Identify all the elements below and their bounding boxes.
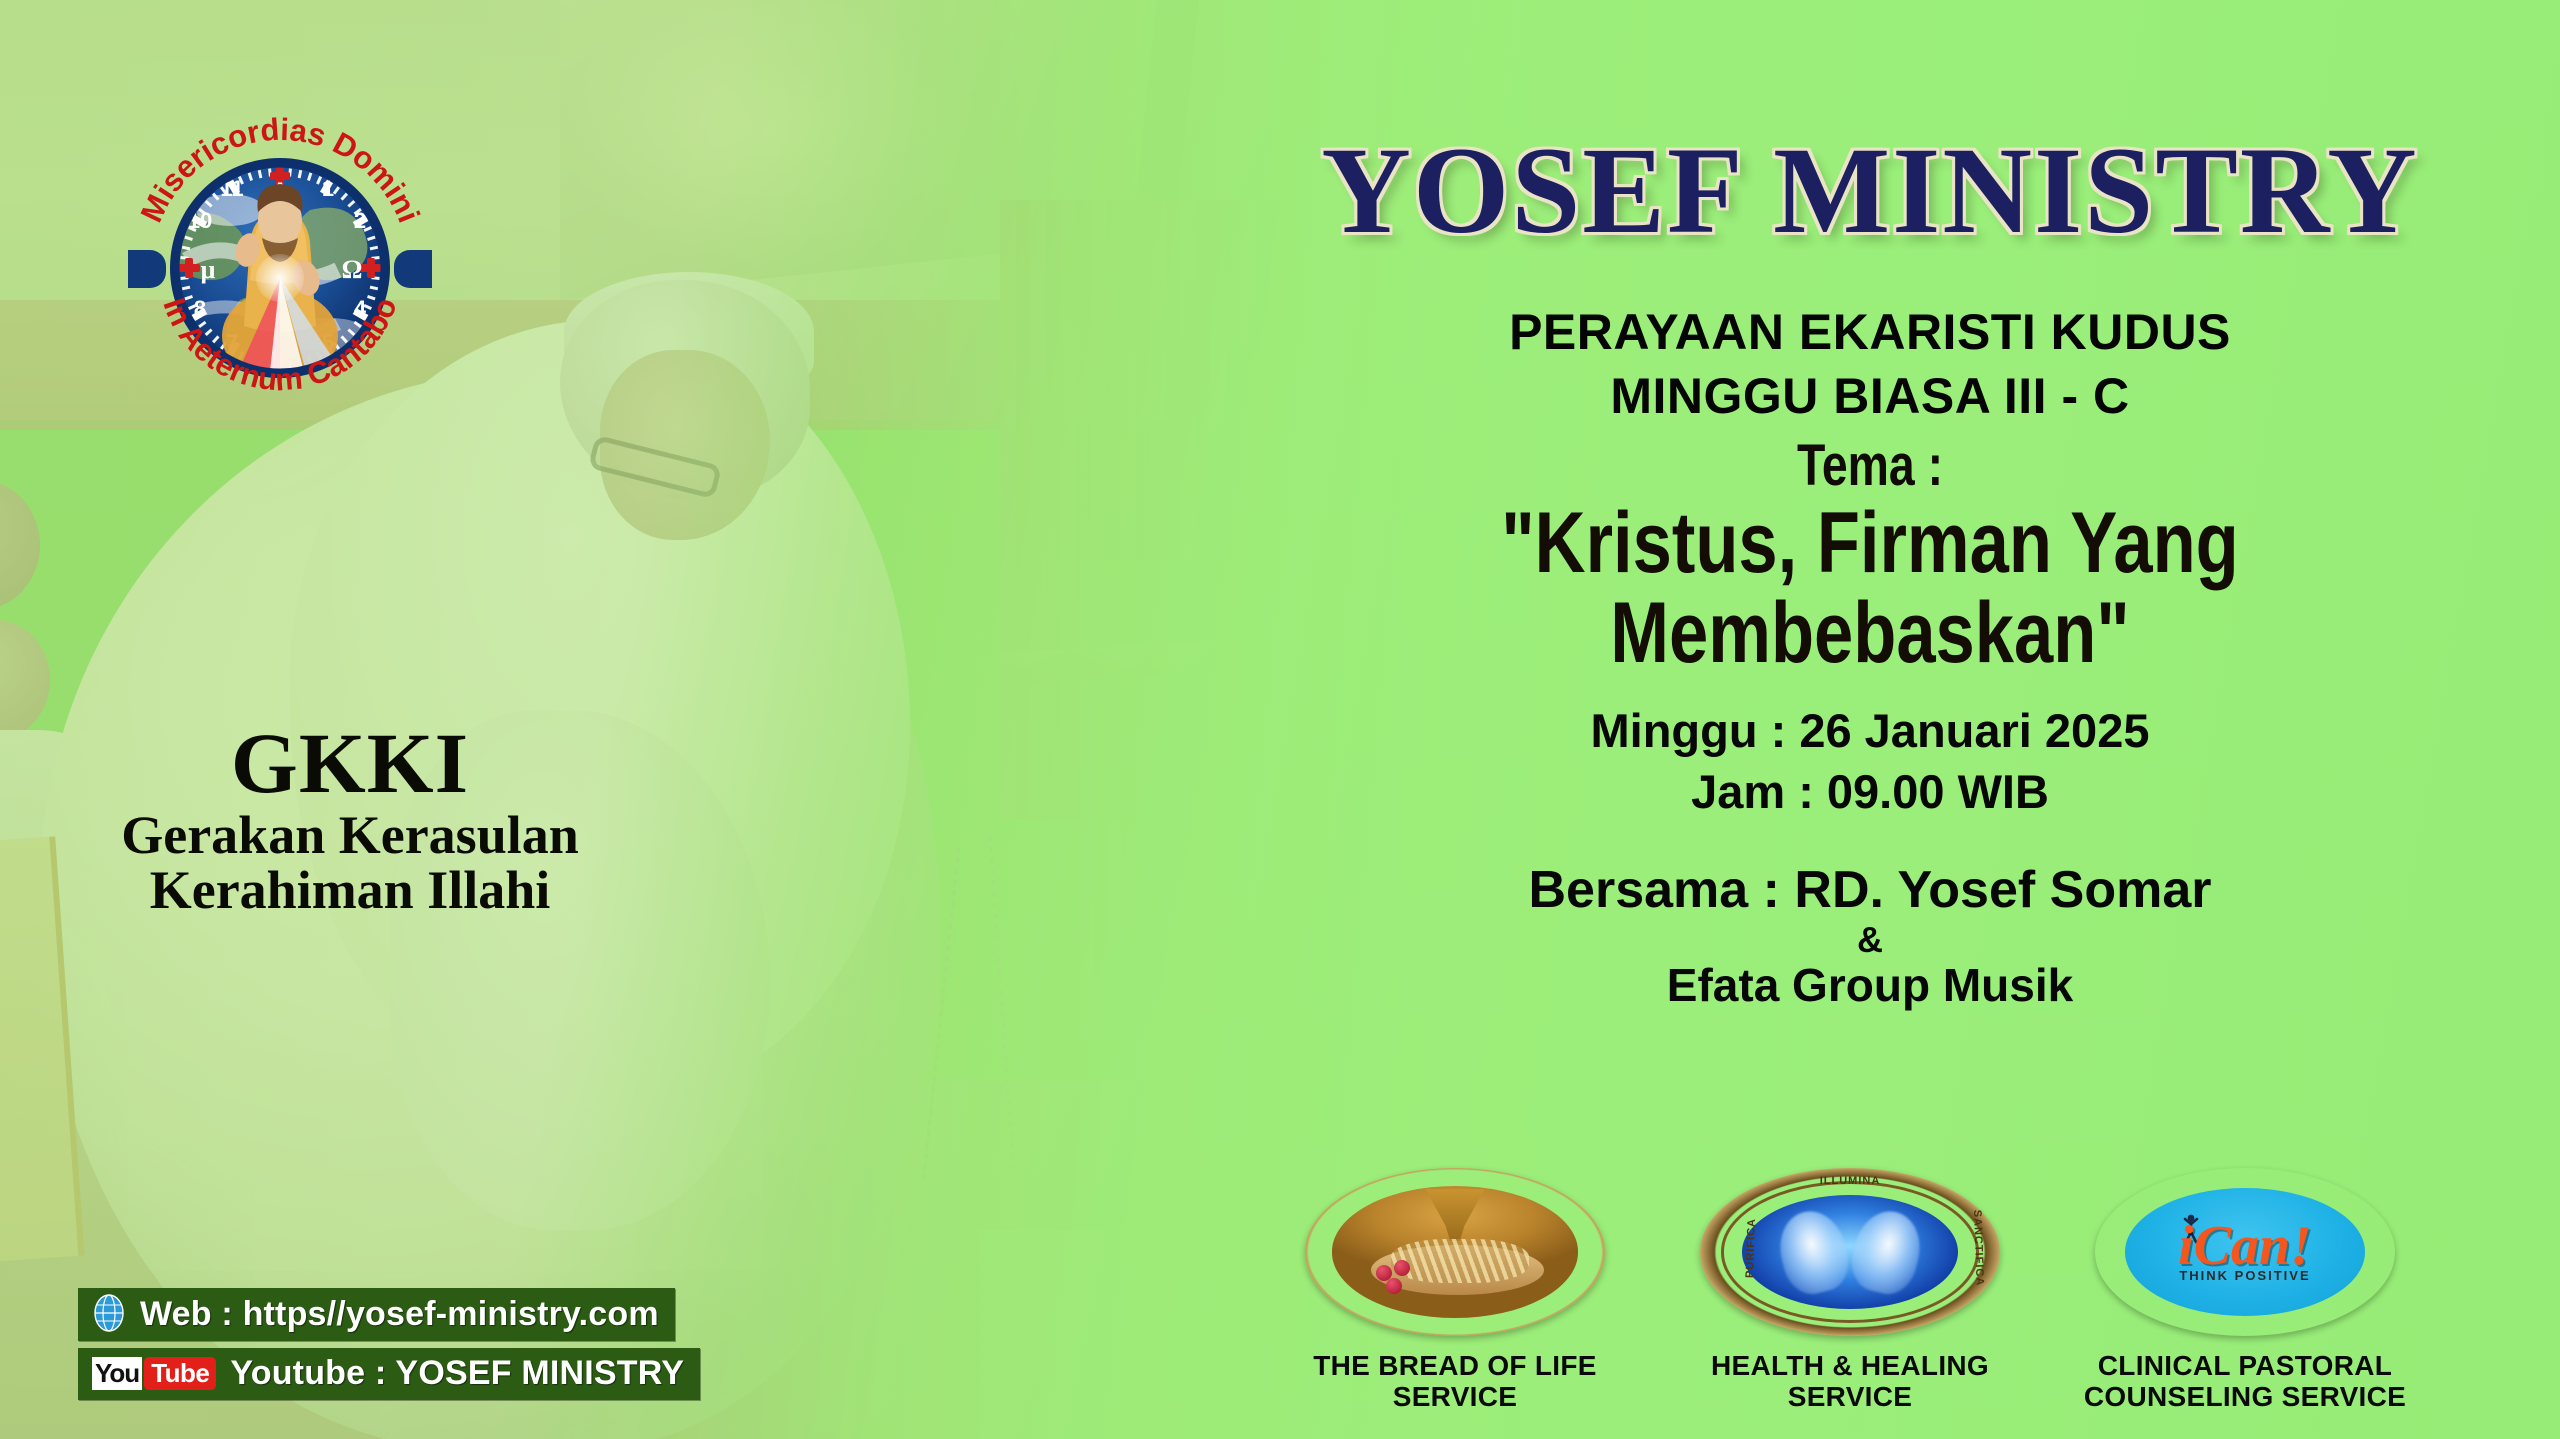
website-label: Web : https//yosef-ministry.com	[140, 1295, 659, 1334]
page-title: YOSEF MINISTRY	[1180, 120, 2560, 262]
youtube-icon-text-left: You	[92, 1357, 142, 1390]
service-label: HEALTH & HEALING SERVICE	[1685, 1350, 2015, 1413]
ican-clinical-pastoral-badge-icon: iCan! THINK POSITIVE	[2095, 1168, 2395, 1336]
bread-of-life-badge-icon	[1305, 1168, 1605, 1336]
subtitle-line1: PERAYAAN EKARISTI KUDUS	[1180, 300, 2560, 364]
music-group: Efata Group Musik	[1180, 958, 2560, 1012]
youtube-label: Youtube : YOSEF MINISTRY	[230, 1354, 684, 1393]
service-label-line2: COUNSELING SERVICE	[2080, 1381, 2410, 1412]
event-date: Minggu : 26 Januari 2025	[1180, 700, 2560, 761]
globe-icon	[92, 1294, 126, 1334]
service-badge-health-healing[interactable]: ILLUMINA PURIFICA SANCTIFICA HEALTH & HE…	[1685, 1168, 2015, 1413]
badge-rim-text: ILLUMINA PURIFICA SANCTIFICA	[1700, 1168, 2000, 1336]
service-label-line1: THE BREAD OF LIFE	[1290, 1350, 1620, 1381]
event-time: Jam : 09.00 WIB	[1180, 761, 2560, 822]
health-healing-badge-icon: ILLUMINA PURIFICA SANCTIFICA	[1700, 1168, 2000, 1336]
svg-text:μ: μ	[201, 255, 216, 284]
theme-label: Tema :	[1318, 432, 2422, 499]
service-badge-bread-of-life[interactable]: THE BREAD OF LIFE SERVICE	[1290, 1168, 1620, 1413]
ican-brand-subtext: THINK POSITIVE	[2125, 1268, 2365, 1283]
youtube-bar[interactable]: You Tube Youtube : YOSEF MINISTRY	[78, 1348, 700, 1400]
service-label-line1: HEALTH & HEALING	[1685, 1350, 2015, 1381]
org-name-line1: Gerakan Kerasulan	[0, 808, 700, 863]
event-subtitle: PERAYAAN EKARISTI KUDUS MINGGU BIASA III…	[1180, 300, 2560, 428]
gkki-clock-globe-divine-mercy-logo: 1 2 4 5 7 8 10 11 Α Ω ψ μ	[120, 100, 440, 420]
service-label-line1: CLINICAL PASTORAL	[2080, 1350, 2410, 1381]
schedule-block: Minggu : 26 Januari 2025 Jam : 09.00 WIB	[1180, 700, 2560, 822]
theme-line1: "Kristus, Firman Yang	[1304, 500, 2436, 586]
service-badges: THE BREAD OF LIFE SERVICE ILLUMINA PURIF…	[1290, 1168, 2410, 1413]
organization-name-block: GKKI Gerakan Kerasulan Kerahiman Illahi	[0, 720, 700, 918]
celebrant-block: Bersama : RD. Yosef Somar & Efata Group …	[1180, 860, 2560, 1012]
service-label: THE BREAD OF LIFE SERVICE	[1290, 1350, 1620, 1413]
theme-line2: Membebaskan"	[1304, 590, 2436, 676]
org-name-line2: Kerahiman Illahi	[0, 863, 700, 918]
youtube-icon-text-right: Tube	[144, 1357, 216, 1390]
org-abbreviation: GKKI	[0, 720, 700, 808]
celebrant-ampersand: &	[1180, 922, 2560, 958]
svg-text:Ω: Ω	[342, 255, 363, 284]
website-bar[interactable]: Web : https//yosef-ministry.com	[78, 1288, 675, 1341]
youtube-icon: You Tube	[92, 1357, 216, 1390]
event-flyer: 1 2 4 5 7 8 10 11 Α Ω ψ μ	[0, 0, 2560, 1439]
service-label-line2: SERVICE	[1685, 1381, 2015, 1412]
ican-brand: iCan!	[2178, 1224, 2312, 1269]
subtitle-line2: MINGGU BIASA III - C	[1180, 364, 2560, 428]
service-badge-clinical-pastoral[interactable]: iCan! THINK POSITIVE CLINICAL PASTORAL C…	[2080, 1168, 2410, 1413]
contact-footer: Web : https//yosef-ministry.com You Tube…	[78, 1288, 778, 1407]
service-label: CLINICAL PASTORAL COUNSELING SERVICE	[2080, 1350, 2410, 1413]
service-label-line2: SERVICE	[1290, 1381, 1620, 1412]
celebrant-name: Bersama : RD. Yosef Somar	[1180, 860, 2560, 920]
